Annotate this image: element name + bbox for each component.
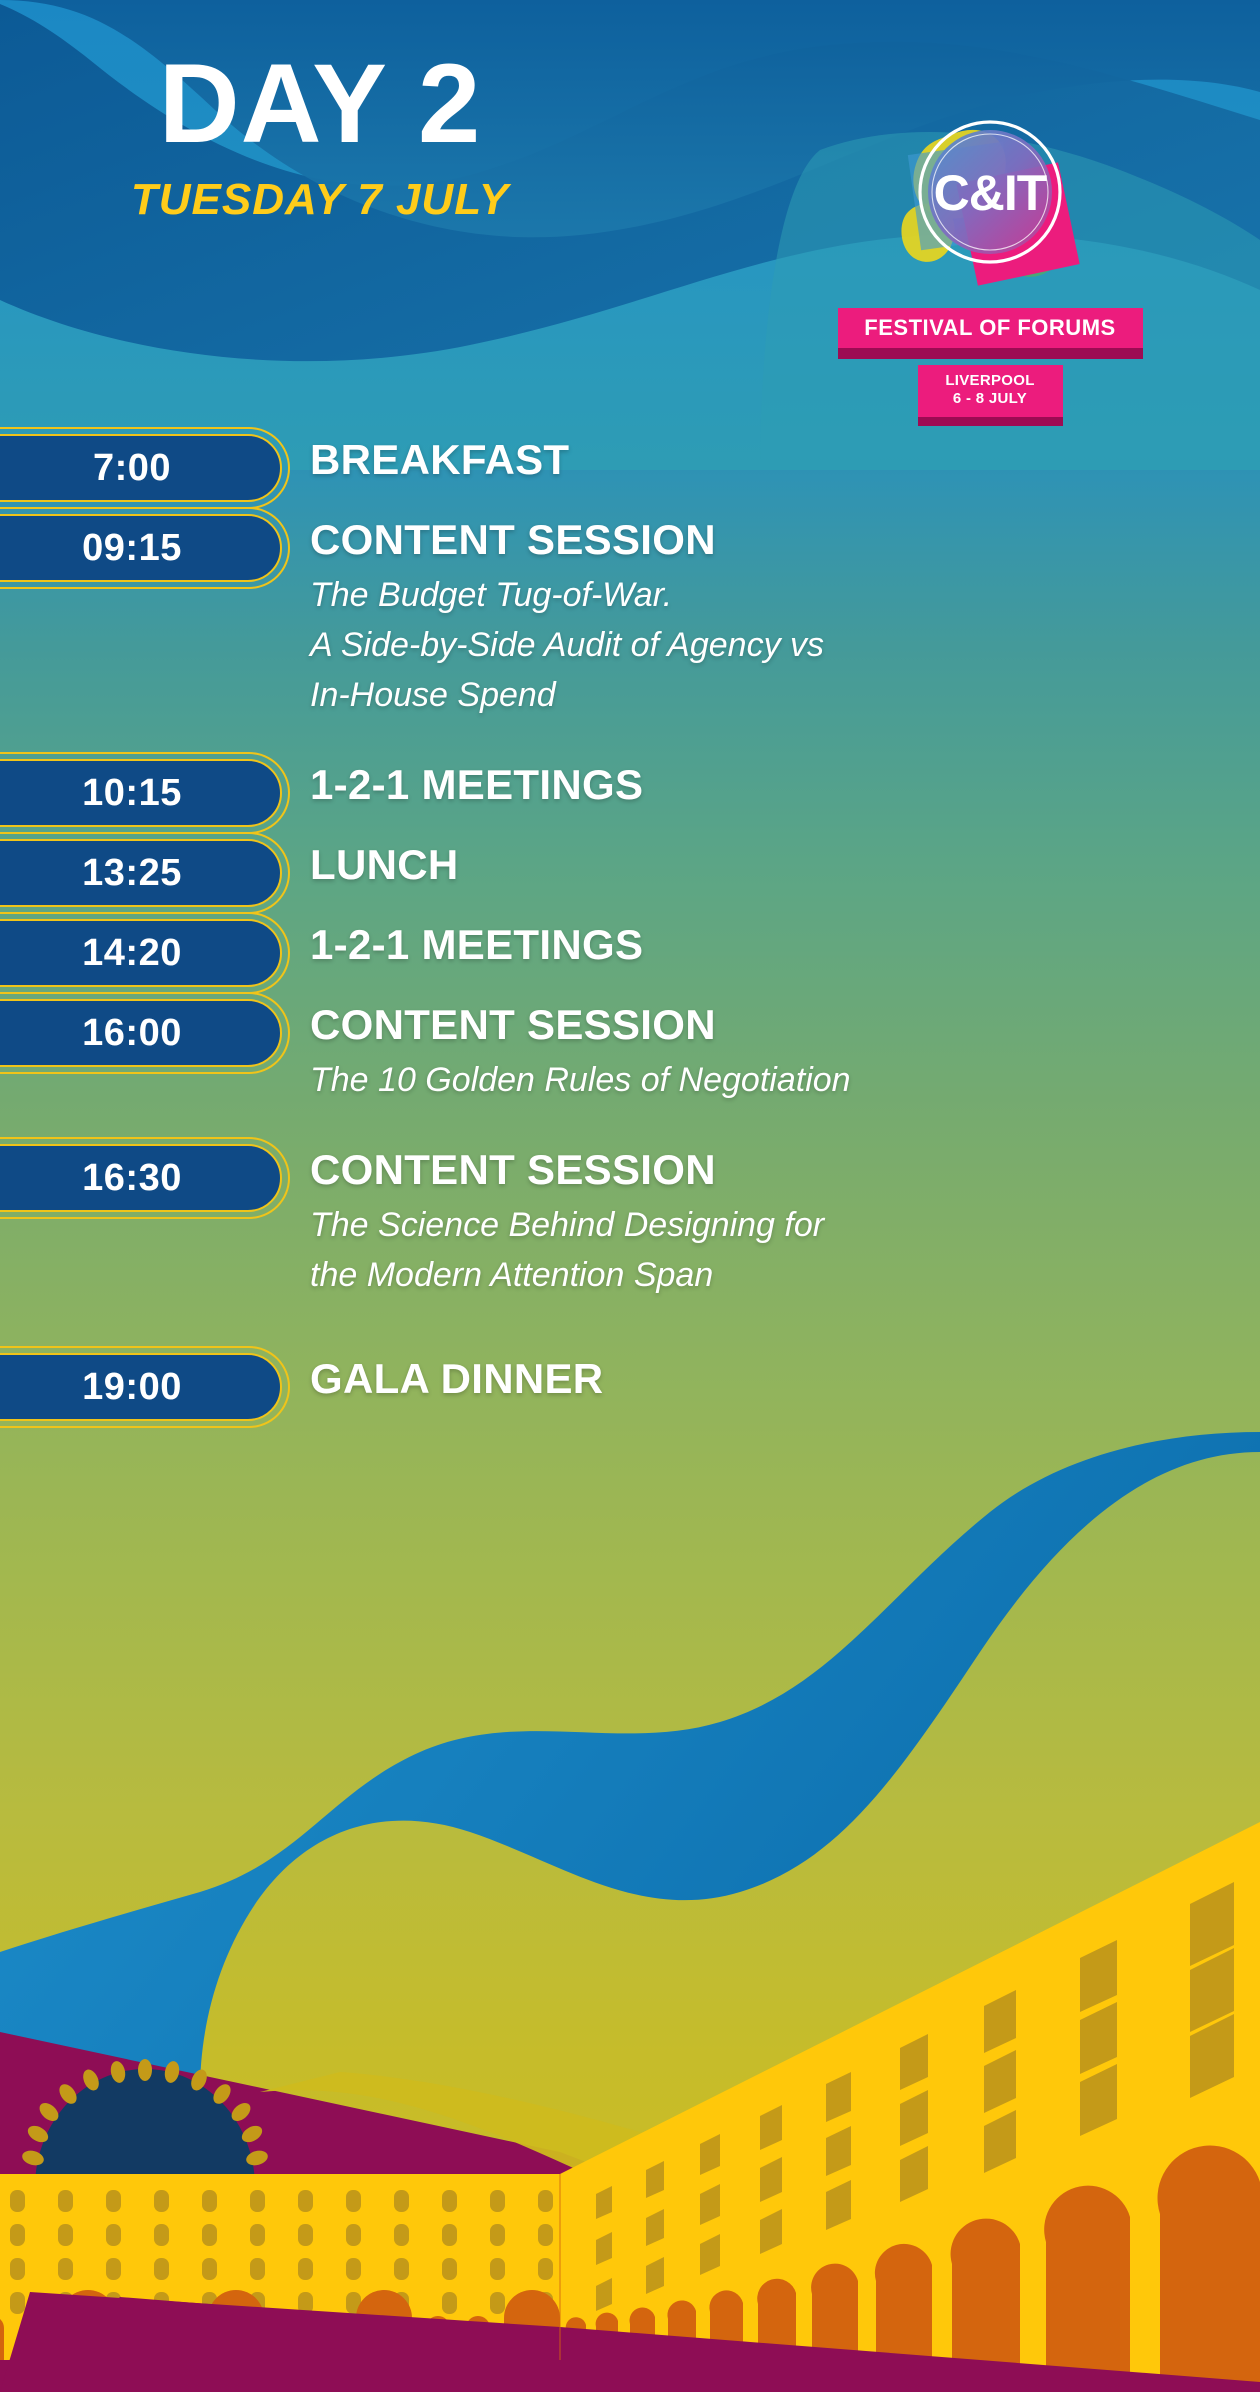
building-right	[560, 1822, 1260, 2392]
schedule-row-body: CONTENT SESSIONThe Budget Tug-of-War.A S…	[282, 510, 1260, 721]
svg-text:C&IT: C&IT	[934, 165, 1047, 221]
schedule-item-title: CONTENT SESSION	[310, 1148, 1260, 1192]
time-badge: 14:20	[0, 919, 282, 987]
schedule-row: 14:201-2-1 MEETINGS	[0, 915, 1260, 987]
time-badge: 10:15	[0, 759, 282, 827]
location-banner-text: LIVERPOOL 6 - 8 JULY	[918, 365, 1063, 417]
description-line: In-House Spend	[310, 671, 1100, 721]
cit-logo-mark: C&IT	[880, 110, 1100, 300]
illustration-svg	[0, 1392, 1260, 2392]
time-badge-label: 16:30	[82, 1159, 182, 1197]
schedule-item-title: CONTENT SESSION	[310, 518, 1260, 562]
schedule-item-title: 1-2-1 MEETINGS	[310, 763, 1260, 807]
schedule-row: 13:25LUNCH	[0, 835, 1260, 907]
time-badge: 13:25	[0, 839, 282, 907]
schedule-row-body: 1-2-1 MEETINGS	[282, 915, 1260, 967]
time-badge: 09:15	[0, 514, 282, 582]
schedule-row-body: GALA DINNER	[282, 1349, 1260, 1401]
schedule-item-title: GALA DINNER	[310, 1357, 1260, 1401]
time-badge: 7:00	[0, 434, 282, 502]
festival-banner-shadow	[838, 348, 1143, 359]
time-badge-label: 10:15	[82, 774, 182, 812]
location-banner-shadow	[918, 417, 1063, 426]
schedule-item-description: The Science Behind Designing forthe Mode…	[310, 1201, 1100, 1301]
schedule-row-body: BREAKFAST	[282, 430, 1260, 482]
schedule-item-description: The 10 Golden Rules of Negotiation	[310, 1056, 1100, 1106]
schedule-item-title: BREAKFAST	[310, 438, 1260, 482]
description-line: The 10 Golden Rules of Negotiation	[310, 1056, 1100, 1106]
time-badge-label: 16:00	[82, 1014, 182, 1052]
time-badge-label: 09:15	[82, 529, 182, 567]
schedule-row: 19:00GALA DINNER	[0, 1349, 1260, 1421]
location-city: LIVERPOOL	[922, 372, 1059, 390]
festival-banner-label: FESTIVAL OF FORUMS	[838, 308, 1143, 348]
description-line: The Science Behind Designing for	[310, 1201, 1100, 1251]
schedule-item-description: The Budget Tug-of-War.A Side-by-Side Aud…	[310, 571, 1100, 721]
schedule-row: 16:30CONTENT SESSIONThe Science Behind D…	[0, 1140, 1260, 1301]
poster-header: DAY 2 TUESDAY 7 JULY	[0, 48, 640, 222]
header-date: TUESDAY 7 JULY	[0, 178, 640, 222]
location-banner: LIVERPOOL 6 - 8 JULY	[918, 365, 1063, 426]
description-line: the Modern Attention Span	[310, 1251, 1100, 1301]
event-logo: C&IT FESTIVAL OF FORUMS LIVERPOOL 6 - 8 …	[820, 110, 1160, 426]
cit-logo-svg: C&IT	[880, 110, 1100, 300]
time-badge-label: 19:00	[82, 1368, 182, 1406]
schedule-list: 7:00BREAKFAST09:15CONTENT SESSIONThe Bud…	[0, 430, 1260, 1429]
schedule-row-body: CONTENT SESSIONThe Science Behind Design…	[282, 1140, 1260, 1301]
time-badge: 16:30	[0, 1144, 282, 1212]
schedule-item-title: LUNCH	[310, 843, 1260, 887]
schedule-row-body: CONTENT SESSIONThe 10 Golden Rules of Ne…	[282, 995, 1260, 1106]
festival-banner: FESTIVAL OF FORUMS	[838, 308, 1143, 359]
description-line: A Side-by-Side Audit of Agency vs	[310, 621, 1100, 671]
time-badge-label: 14:20	[82, 934, 182, 972]
schedule-row-body: LUNCH	[282, 835, 1260, 887]
time-badge-label: 7:00	[93, 449, 171, 487]
schedule-row: 7:00BREAKFAST	[0, 430, 1260, 502]
schedule-item-title: CONTENT SESSION	[310, 1003, 1260, 1047]
schedule-row: 09:15CONTENT SESSIONThe Budget Tug-of-Wa…	[0, 510, 1260, 721]
time-badge: 16:00	[0, 999, 282, 1067]
schedule-item-title: 1-2-1 MEETINGS	[310, 923, 1260, 967]
location-dates: 6 - 8 JULY	[922, 390, 1059, 408]
schedule-row: 10:151-2-1 MEETINGS	[0, 755, 1260, 827]
day-schedule-poster: DAY 2 TUESDAY 7 JULY	[0, 0, 1260, 2392]
schedule-row: 16:00CONTENT SESSIONThe 10 Golden Rules …	[0, 995, 1260, 1106]
liverpool-illustration	[0, 1392, 1260, 2392]
schedule-row-body: 1-2-1 MEETINGS	[282, 755, 1260, 807]
page-title: DAY 2	[0, 48, 640, 160]
time-badge-label: 13:25	[82, 854, 182, 892]
time-badge: 19:00	[0, 1353, 282, 1421]
description-line: The Budget Tug-of-War.	[310, 571, 1100, 621]
